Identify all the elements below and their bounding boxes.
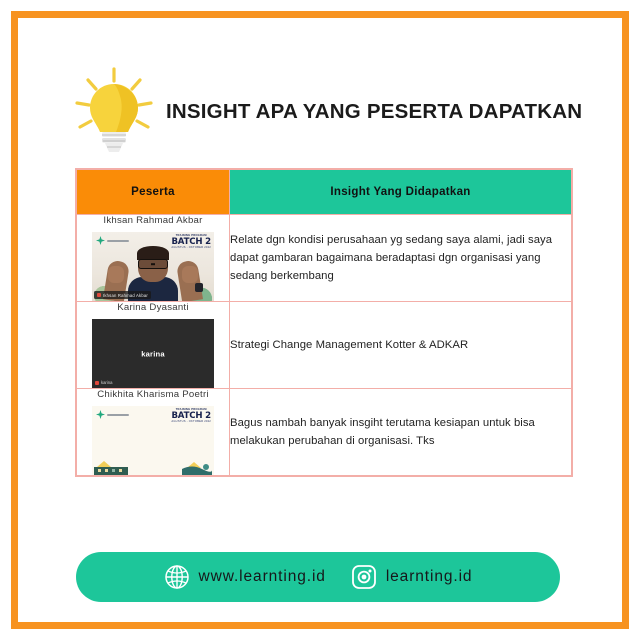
mic-muted-icon — [95, 381, 99, 385]
insight-cell: Strategi Change Management Kotter & ADKA… — [230, 302, 572, 389]
insight-table: Peserta Insight Yang Didapatkan Ikhsan R… — [75, 168, 573, 477]
batch-badge-bottom: AGUSTUS - OKTOBER 2022 — [171, 247, 211, 250]
hair — [137, 246, 169, 260]
zoom-thumbnail-video-off: karina karina — [92, 319, 214, 388]
learnting-logo-mark — [96, 236, 105, 245]
instagram-label[interactable]: learnting.id — [386, 568, 473, 586]
slide-decoration-right — [182, 460, 212, 475]
zoom-name-overlay-label: karina — [101, 380, 112, 385]
wristwatch — [195, 283, 203, 292]
insight-cell: Bagus nambah banyak insgiht terutama kes… — [230, 389, 572, 476]
poster-header: INSIGHT APA YANG PESERTA DAPATKAN — [64, 62, 584, 162]
table-row: Chikhita Kharisma Poetri TRAINING PROGRA… — [77, 389, 572, 476]
zoom-display-name: karina — [92, 349, 214, 358]
batch-badge: TRAINING PROGRAM BATCH 2 AGUSTUS - OKTOB… — [171, 235, 211, 250]
slide-decoration-left — [94, 459, 128, 475]
participant-name: Chikhita Kharisma Poetri — [77, 389, 229, 400]
glasses-icon — [138, 259, 168, 269]
instagram-icon — [351, 564, 377, 590]
mic-muted-icon — [97, 293, 101, 297]
poster-canvas: INSIGHT APA YANG PESERTA DAPATKAN Pesert… — [0, 0, 640, 640]
zoom-thumbnail-person: TRAINING PROGRAM BATCH 2 AGUSTUS - OKTOB… — [92, 232, 214, 301]
participant-cell: Karina Dyasanti karina karina — [77, 302, 230, 389]
learnting-logo — [96, 410, 129, 419]
thumbs-up-right-icon — [182, 266, 198, 283]
zoom-name-overlay: karina — [95, 380, 112, 385]
table-header-row: Peserta Insight Yang Didapatkan — [77, 170, 572, 215]
participant-cell: Chikhita Kharisma Poetri TRAINING PROGRA… — [77, 389, 230, 476]
website-label[interactable]: www.learnting.id — [199, 568, 326, 586]
globe-icon — [164, 564, 190, 590]
column-header-insight: Insight Yang Didapatkan — [230, 170, 572, 215]
lightbulb-icon — [64, 62, 164, 162]
batch-badge: TRAINING PROGRAM BATCH 2 AGUSTUS - OKTOB… — [171, 409, 211, 424]
learnting-logo-mark — [96, 410, 105, 419]
table-row: Ikhsan Rahmad Akbar — [77, 215, 572, 302]
participant-name: Ikhsan Rahmad Akbar — [77, 215, 229, 226]
zoom-name-overlay-label: Ikhsan Rahmad Akbar — [103, 293, 148, 298]
zoom-thumbnail-slide: TRAINING PROGRAM BATCH 2 AGUSTUS - OKTOB… — [92, 406, 214, 475]
batch-badge-bottom: AGUSTUS - OKTOBER 2022 — [171, 421, 211, 424]
column-header-peserta: Peserta — [77, 170, 230, 215]
page-title: INSIGHT APA YANG PESERTA DAPATKAN — [166, 101, 582, 124]
participant-cell: Ikhsan Rahmad Akbar — [77, 215, 230, 302]
learnting-logo-wordmark — [107, 414, 129, 416]
learnting-logo-wordmark — [107, 240, 129, 242]
zoom-name-overlay: Ikhsan Rahmad Akbar — [94, 291, 151, 299]
insight-cell: Relate dgn kondisi perusahaan yg sedang … — [230, 215, 572, 302]
learnting-logo — [96, 236, 129, 245]
thumbs-up-left-icon — [108, 266, 124, 283]
table-row: Karina Dyasanti karina karina Strategi C… — [77, 302, 572, 389]
contact-footer-bar: www.learnting.id learnting.id — [76, 552, 560, 602]
participant-name: Karina Dyasanti — [77, 302, 229, 313]
